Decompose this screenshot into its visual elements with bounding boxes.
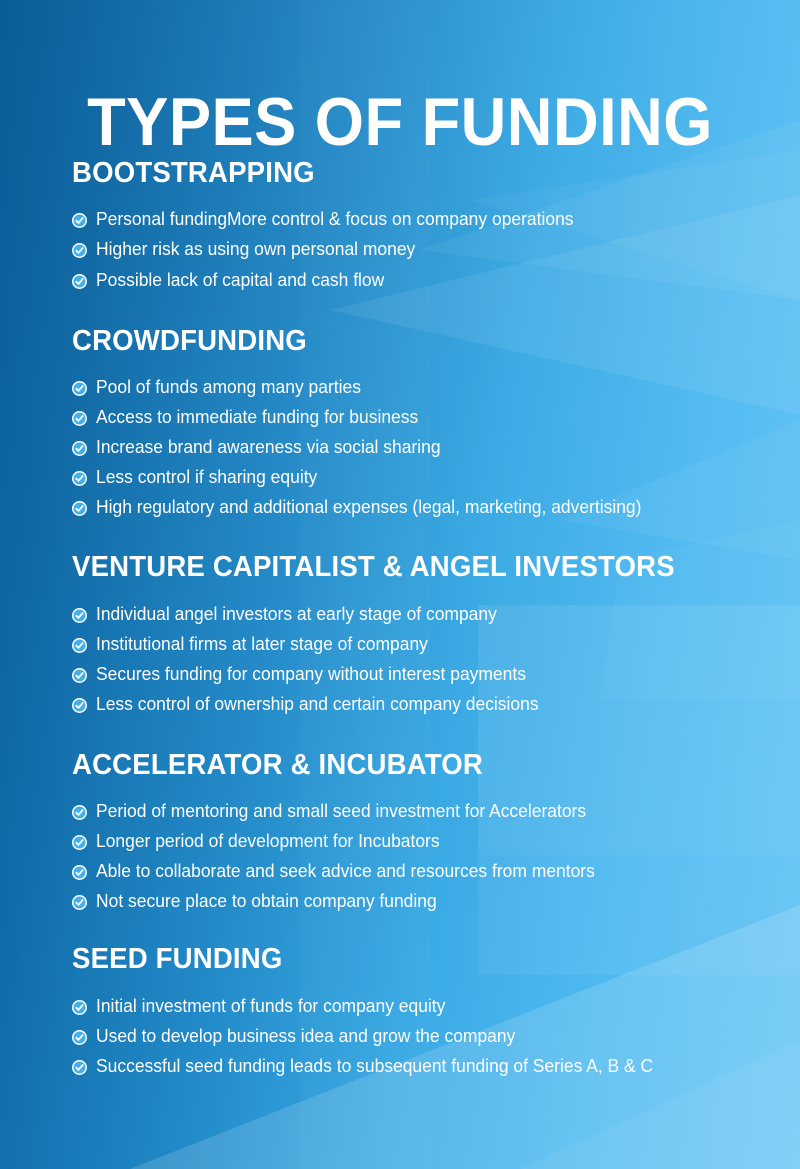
list-item-label: Secures funding for company without inte… bbox=[96, 663, 526, 686]
check-circle-icon bbox=[72, 805, 87, 820]
list-item-label: High regulatory and additional expenses … bbox=[96, 496, 641, 519]
list-item-label: Period of mentoring and small seed inves… bbox=[96, 800, 586, 823]
check-circle-icon bbox=[72, 668, 87, 683]
section-divider-space bbox=[72, 723, 772, 750]
list-item: Used to develop business idea and grow t… bbox=[72, 1025, 772, 1048]
list-item-label: Not secure place to obtain company fundi… bbox=[96, 890, 437, 913]
check-circle-icon bbox=[72, 441, 87, 456]
section-divider-space bbox=[72, 526, 772, 552]
check-circle-icon bbox=[72, 471, 87, 486]
list-item-label: Initial investment of funds for company … bbox=[96, 995, 445, 1018]
section-title: VENTURE CAPITALIST & ANGEL INVESTORS bbox=[72, 552, 737, 582]
list-item: Higher risk as using own personal money bbox=[72, 238, 772, 261]
list-item: Individual angel investors at early stag… bbox=[72, 603, 772, 626]
list-item: High regulatory and additional expenses … bbox=[72, 496, 772, 519]
check-circle-icon bbox=[72, 411, 87, 426]
list-item: Able to collaborate and seek advice and … bbox=[72, 860, 772, 883]
bullet-list: Personal fundingMore control & focus on … bbox=[72, 208, 772, 291]
list-item-label: Less control if sharing equity bbox=[96, 466, 317, 489]
section-seed-funding: SEED FUNDING Initial investment of funds… bbox=[72, 944, 772, 1078]
section-divider-space bbox=[72, 920, 772, 944]
list-item-label: Able to collaborate and seek advice and … bbox=[96, 860, 595, 883]
section-title: CROWDFUNDING bbox=[72, 326, 737, 356]
list-item-label: Increase brand awareness via social shar… bbox=[96, 436, 441, 459]
list-item-label: Longer period of development for Incubat… bbox=[96, 830, 440, 853]
list-item: Pool of funds among many parties bbox=[72, 376, 772, 399]
list-item: Increase brand awareness via social shar… bbox=[72, 436, 772, 459]
section-title: ACCELERATOR & INCUBATOR bbox=[72, 750, 737, 780]
check-circle-icon bbox=[72, 243, 87, 258]
section-accelerator-incubator: ACCELERATOR & INCUBATOR Period of mentor… bbox=[72, 750, 772, 914]
check-circle-icon bbox=[72, 608, 87, 623]
section-venture-capitalist-angel-investors: VENTURE CAPITALIST & ANGEL INVESTORS Ind… bbox=[72, 552, 772, 716]
bullet-list: Period of mentoring and small seed inves… bbox=[72, 800, 772, 913]
list-item: Access to immediate funding for business bbox=[72, 406, 772, 429]
section-title: SEED FUNDING bbox=[72, 944, 737, 974]
check-circle-icon bbox=[72, 274, 87, 289]
list-item: Less control if sharing equity bbox=[72, 466, 772, 489]
list-item-label: Institutional firms at later stage of co… bbox=[96, 633, 428, 656]
check-circle-icon bbox=[72, 638, 87, 653]
bullet-list: Pool of funds among many parties Access … bbox=[72, 376, 772, 519]
check-circle-icon bbox=[72, 1030, 87, 1045]
list-item: Period of mentoring and small seed inves… bbox=[72, 800, 772, 823]
list-item: Institutional firms at later stage of co… bbox=[72, 633, 772, 656]
section-divider-space bbox=[72, 299, 772, 326]
list-item-label: Personal fundingMore control & focus on … bbox=[96, 208, 574, 231]
list-item-label: Possible lack of capital and cash flow bbox=[96, 269, 384, 292]
section-crowdfunding: CROWDFUNDING Pool of funds among many pa… bbox=[72, 326, 772, 520]
check-circle-icon bbox=[72, 698, 87, 713]
section-bootstrapping: BOOTSTRAPPING Personal fundingMore contr… bbox=[72, 158, 772, 292]
list-item-label: Less control of ownership and certain co… bbox=[96, 693, 539, 716]
list-item: Secures funding for company without inte… bbox=[72, 663, 772, 686]
list-item-label: Pool of funds among many parties bbox=[96, 376, 361, 399]
list-item: Possible lack of capital and cash flow bbox=[72, 269, 772, 292]
sections-list: BOOTSTRAPPING Personal fundingMore contr… bbox=[72, 158, 772, 1085]
check-circle-icon bbox=[72, 213, 87, 228]
list-item-label: Successful seed funding leads to subsequ… bbox=[96, 1055, 653, 1078]
section-title: BOOTSTRAPPING bbox=[72, 158, 737, 188]
check-circle-icon bbox=[72, 1000, 87, 1015]
list-item: Not secure place to obtain company fundi… bbox=[72, 890, 772, 913]
check-circle-icon bbox=[72, 381, 87, 396]
list-item: Less control of ownership and certain co… bbox=[72, 693, 772, 716]
list-item: Personal fundingMore control & focus on … bbox=[72, 208, 772, 231]
list-item-label: Used to develop business idea and grow t… bbox=[96, 1025, 515, 1048]
list-item: Longer period of development for Incubat… bbox=[72, 830, 772, 853]
check-circle-icon bbox=[72, 835, 87, 850]
check-circle-icon bbox=[72, 865, 87, 880]
list-item-label: Access to immediate funding for business bbox=[96, 406, 418, 429]
page-title: TYPES OF FUNDING bbox=[28, 88, 772, 156]
list-item-label: Higher risk as using own personal money bbox=[96, 238, 415, 261]
check-circle-icon bbox=[72, 895, 87, 910]
bullet-list: Individual angel investors at early stag… bbox=[72, 603, 772, 716]
bullet-list: Initial investment of funds for company … bbox=[72, 995, 772, 1078]
list-item: Successful seed funding leads to subsequ… bbox=[72, 1055, 772, 1078]
poster-content: TYPES OF FUNDING BOOTSTRAPPING Personal … bbox=[0, 0, 800, 1169]
check-circle-icon bbox=[72, 501, 87, 516]
check-circle-icon bbox=[72, 1060, 87, 1075]
list-item: Initial investment of funds for company … bbox=[72, 995, 772, 1018]
infographic-poster: TYPES OF FUNDING BOOTSTRAPPING Personal … bbox=[0, 0, 800, 1169]
list-item-label: Individual angel investors at early stag… bbox=[96, 603, 497, 626]
